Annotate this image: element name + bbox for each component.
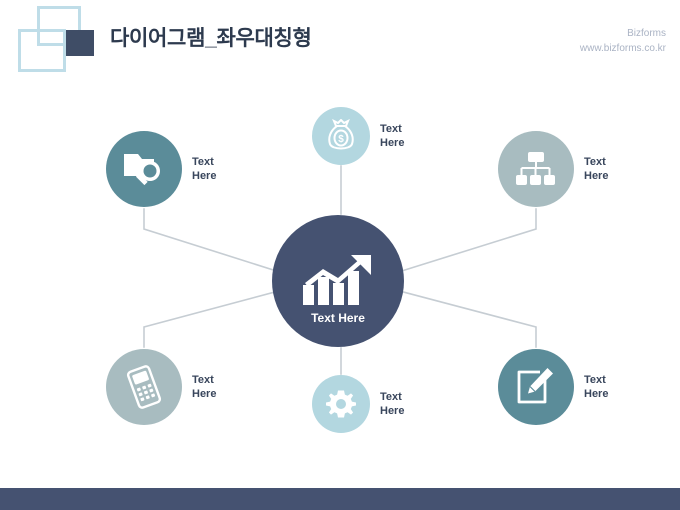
node-bottom-left-label: Text Here: [192, 373, 216, 401]
node-top-left-label-line2: Here: [192, 169, 216, 183]
node-top-center-label-line1: Text: [380, 123, 402, 135]
node-bottom-left-label-line1: Text: [192, 374, 214, 386]
footer-bar: [0, 488, 680, 510]
node-top-center[interactable]: $ Text Here: [312, 107, 452, 165]
bizforms-logo-icon: [14, 6, 100, 68]
gear-icon: [326, 389, 356, 419]
node-top-right[interactable]: Text Here: [498, 131, 658, 207]
node-top-left[interactable]: Text Here: [106, 131, 266, 207]
node-bottom-center-label-line2: Here: [380, 404, 404, 418]
symmetrical-diagram: Text Here Text Here: [0, 84, 680, 488]
node-top-center-bubble[interactable]: $: [312, 107, 370, 165]
node-bottom-center-bubble[interactable]: [312, 375, 370, 433]
node-bottom-center-label: Text Here: [380, 390, 404, 418]
bar-chart-growth-icon: [301, 255, 375, 307]
node-bottom-center[interactable]: Text Here: [312, 375, 452, 433]
slide-canvas: 다이어그램_좌우대칭형 Bizforms www.bizforms.co.kr: [0, 0, 680, 510]
node-top-center-label: Text Here: [380, 122, 404, 150]
page-title: 다이어그램_좌우대칭형: [110, 22, 312, 52]
logo-square-outline-bottom: [18, 29, 66, 72]
node-top-left-bubble[interactable]: [106, 131, 182, 207]
brand-url[interactable]: www.bizforms.co.kr: [580, 41, 666, 56]
node-bottom-left-label-line2: Here: [192, 387, 216, 401]
node-top-left-label-line1: Text: [192, 156, 214, 168]
node-top-right-label-line1: Text: [584, 156, 606, 168]
node-bottom-right-bubble[interactable]: [498, 349, 574, 425]
center-node[interactable]: Text Here: [272, 215, 404, 347]
center-node-label: Text Here: [272, 311, 404, 325]
node-top-right-label: Text Here: [584, 155, 608, 183]
note-pencil-icon: [515, 366, 557, 408]
node-bottom-center-label-line1: Text: [380, 391, 402, 403]
slide-header: 다이어그램_좌우대칭형 Bizforms www.bizforms.co.kr: [0, 0, 680, 84]
mobile-phone-icon: [122, 365, 166, 409]
node-bottom-right-label-line2: Here: [584, 387, 608, 401]
brand-name: Bizforms: [580, 26, 666, 41]
node-bottom-right-label-line1: Text: [584, 374, 606, 386]
center-node-bubble[interactable]: [272, 215, 404, 347]
node-top-center-label-line2: Here: [380, 136, 404, 150]
node-bottom-right-label: Text Here: [584, 373, 608, 401]
logo-square-solid: [66, 30, 94, 56]
node-bottom-right[interactable]: Text Here: [498, 349, 658, 425]
brand-block: Bizforms www.bizforms.co.kr: [580, 26, 666, 56]
node-top-right-label-line2: Here: [584, 169, 608, 183]
node-bottom-left-bubble[interactable]: [106, 349, 182, 425]
org-chart-icon: [515, 151, 557, 187]
money-bag-icon: $: [326, 119, 356, 153]
folder-search-icon: [122, 148, 166, 190]
node-top-right-bubble[interactable]: [498, 131, 574, 207]
svg-text:$: $: [338, 134, 344, 145]
node-top-left-label: Text Here: [192, 155, 216, 183]
node-bottom-left[interactable]: Text Here: [106, 349, 266, 425]
